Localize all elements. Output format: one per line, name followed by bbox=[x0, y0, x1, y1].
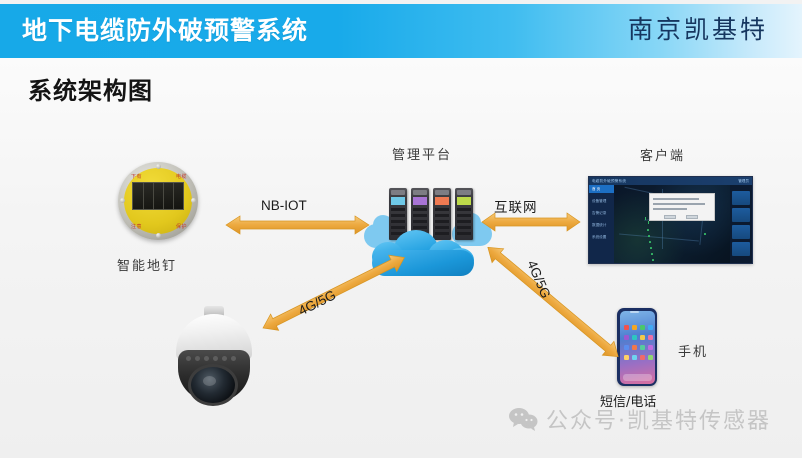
phone-speaker-icon bbox=[630, 311, 639, 313]
watermark-text: 公众号·凯基特传感器 bbox=[546, 403, 771, 435]
edge-label-internet: 互联网 bbox=[494, 196, 538, 216]
edge-label-nb-iot: NB-IOT bbox=[261, 198, 307, 213]
arrow-nb-iot bbox=[226, 216, 369, 234]
connector-arrows bbox=[0, 0, 802, 458]
arrow-cloud-phone bbox=[482, 240, 624, 363]
watermark: 公众号·凯基特传感器 bbox=[508, 403, 771, 435]
wechat-icon bbox=[508, 407, 538, 431]
